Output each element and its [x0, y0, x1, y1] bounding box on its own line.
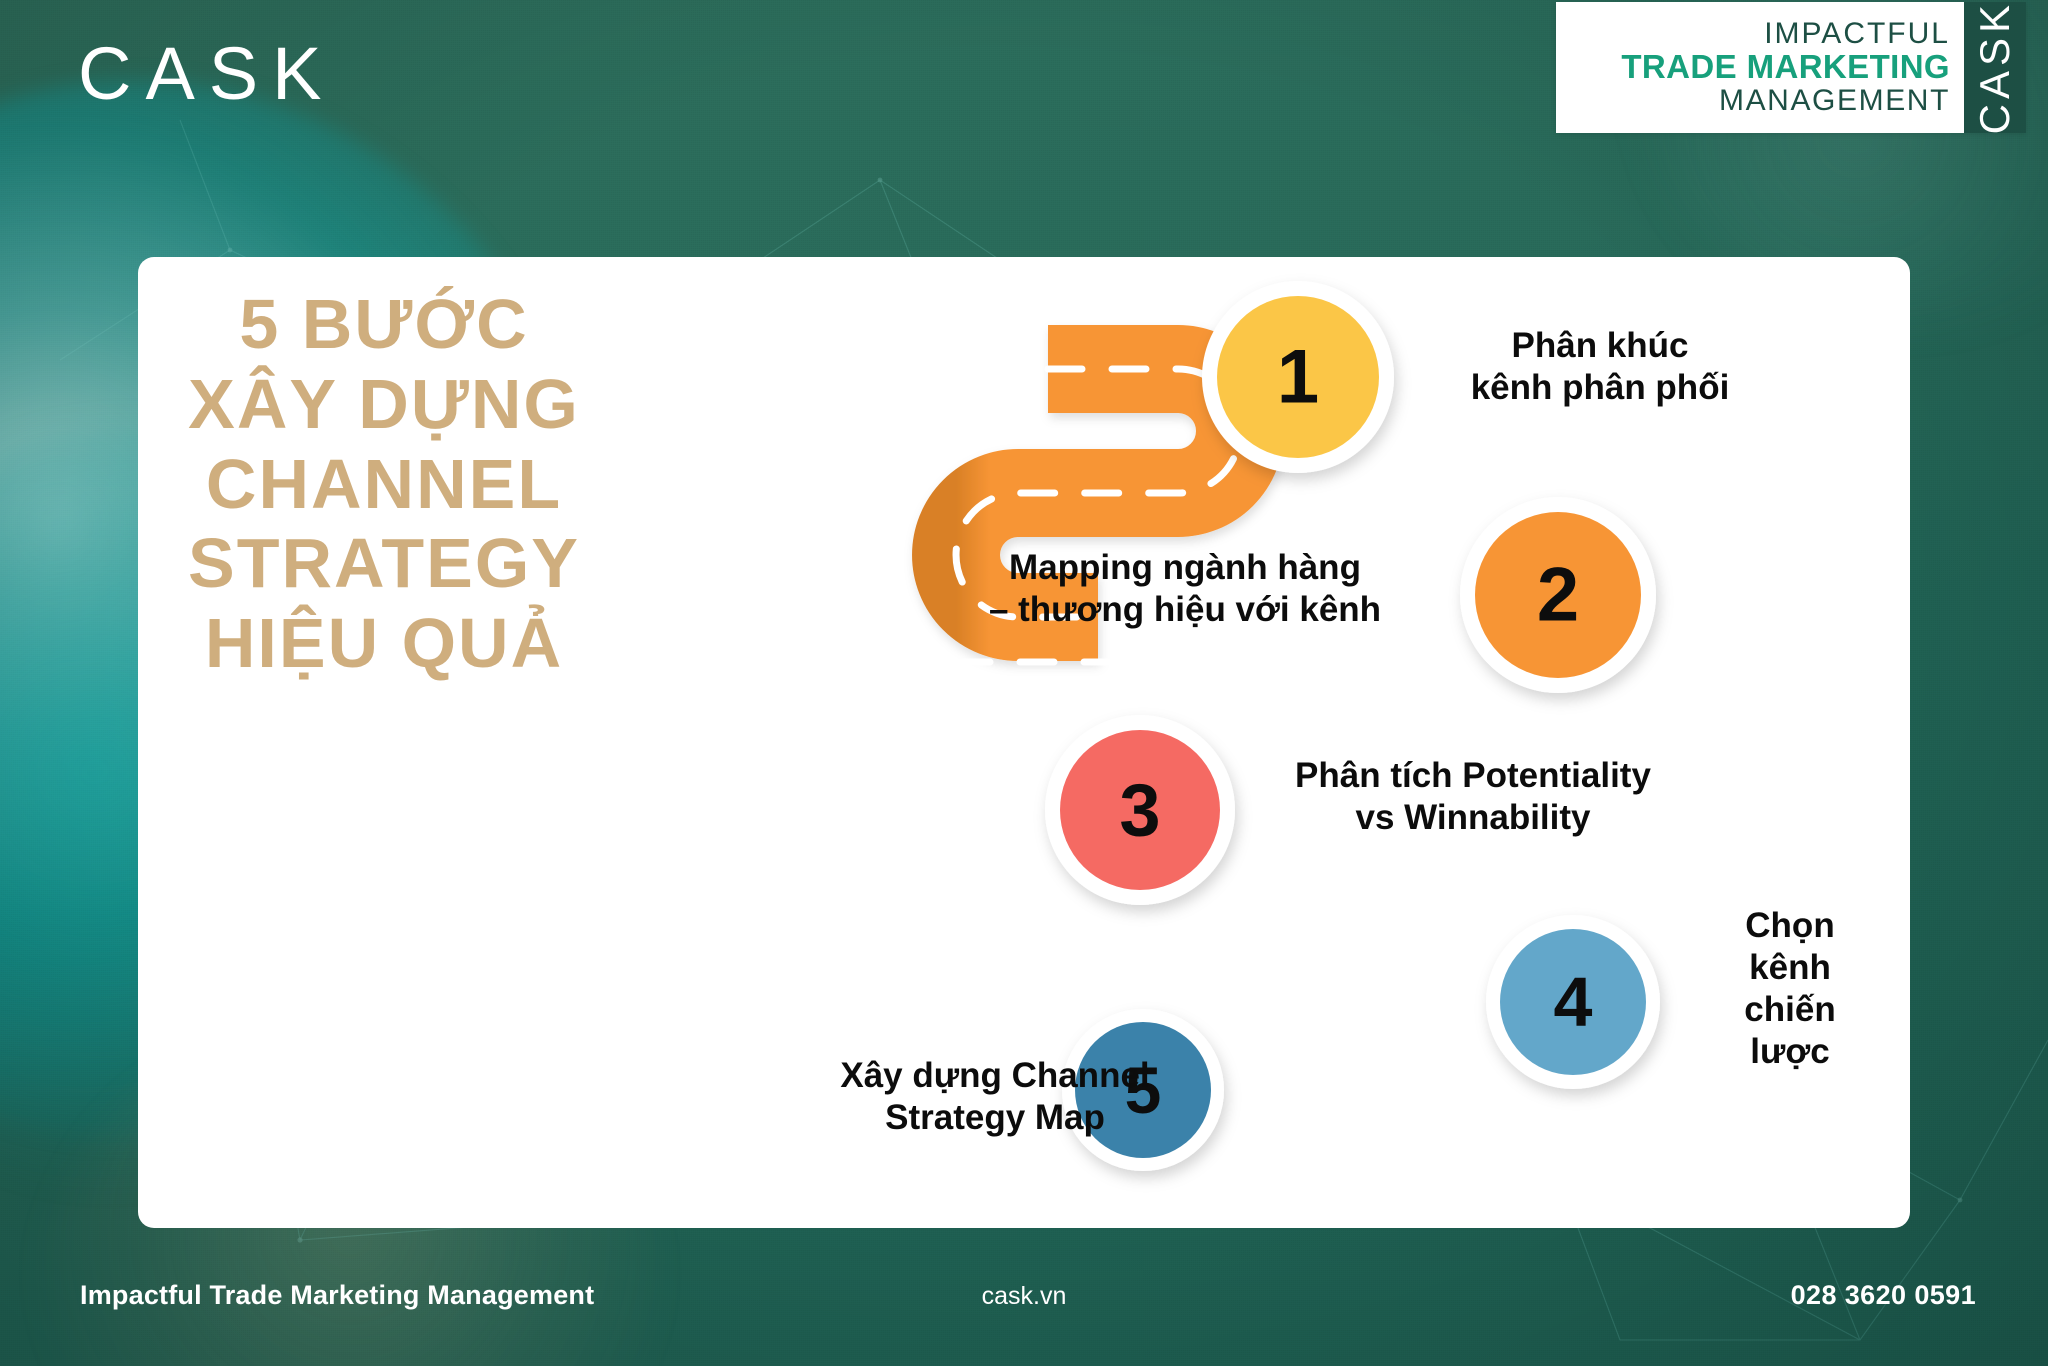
step-number-4: 4: [1554, 963, 1593, 1041]
footer: Impactful Trade Marketing Management cas…: [0, 1228, 2048, 1366]
step-label-4: Chọn kênh chiến lược: [1700, 905, 1880, 1073]
infographic-canvas: CASK IMPACTFUL TRADE MARKETING MANAGEMEN…: [0, 0, 2048, 1366]
step-number-2: 2: [1537, 553, 1579, 638]
step-circle-3[interactable]: 3: [1045, 715, 1235, 905]
cask-logo: CASK: [78, 37, 336, 111]
brand-badge-line2: TRADE MARKETING: [1621, 50, 1950, 85]
step-circle-4[interactable]: 4: [1486, 915, 1660, 1089]
step-number-3: 3: [1119, 769, 1160, 852]
brand-badge-line1: IMPACTFUL: [1764, 18, 1950, 50]
step-circle-2[interactable]: 2: [1460, 497, 1656, 693]
step-circle-1[interactable]: 1: [1202, 281, 1394, 473]
brand-badge-vertical-label: CASK: [1974, 0, 2016, 134]
title-line-5: HIỆU QUẢ: [104, 604, 664, 684]
step-number-1: 1: [1277, 335, 1319, 420]
footer-phone[interactable]: 028 3620 0591: [1791, 1280, 1976, 1311]
step-label-3: Phân tích Potentiality vs Winnability: [1238, 755, 1708, 839]
step-label-1: Phân khúc kênh phân phối: [1440, 325, 1760, 409]
footer-website[interactable]: cask.vn: [0, 1282, 2048, 1311]
brand-badge-text: IMPACTFUL TRADE MARKETING MANAGEMENT: [1556, 2, 1964, 133]
brand-badge: IMPACTFUL TRADE MARKETING MANAGEMENT CAS…: [1556, 2, 2026, 133]
title-line-4: STRATEGY: [104, 524, 664, 604]
page-title: 5 BƯỚC XÂY DỰNG CHANNEL STRATEGY HIỆU QU…: [104, 285, 664, 684]
step-label-5: Xây dựng Channel Strategy Map: [780, 1055, 1210, 1139]
step-label-2: Mapping ngành hàng – thương hiệu với kên…: [940, 547, 1430, 631]
title-line-2: XÂY DỰNG: [104, 365, 664, 445]
title-line-1: 5 BƯỚC: [104, 285, 664, 365]
brand-badge-vertical-tab: CASK: [1964, 2, 2026, 133]
title-line-3: CHANNEL: [104, 445, 664, 525]
brand-badge-line3: MANAGEMENT: [1719, 85, 1950, 117]
